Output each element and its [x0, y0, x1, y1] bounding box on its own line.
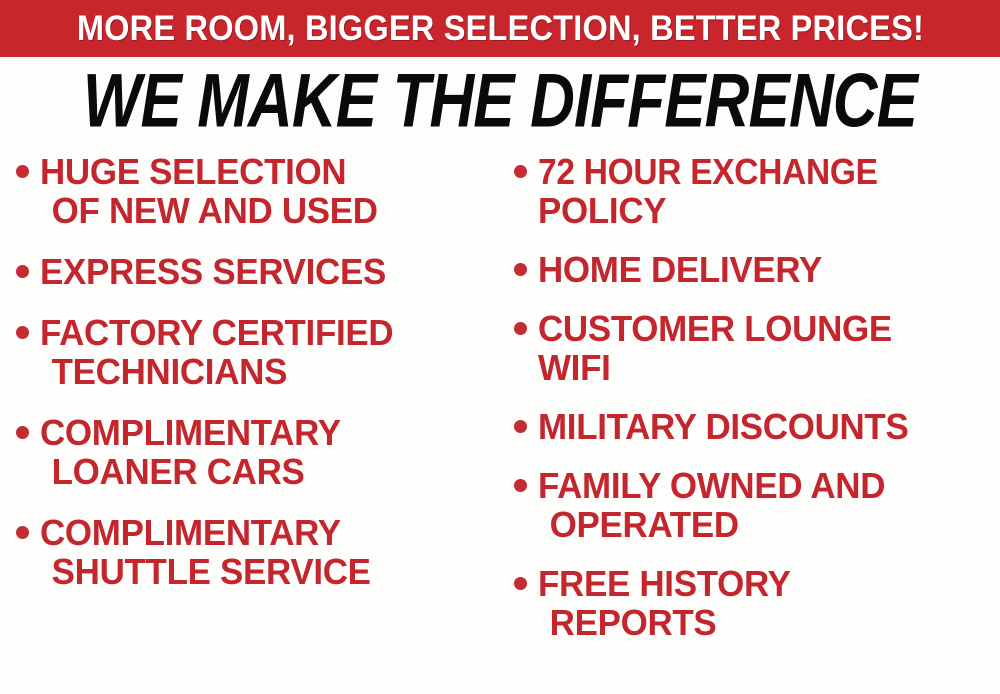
list-item-text: FREE HISTORY REPORTS: [538, 564, 1000, 642]
benefits-column-right: 72 HOUR EXCHANGE POLICY HOME DELIVERY CU…: [500, 152, 1000, 694]
list-item: COMPLIMENTARY SHUTTLE SERVICE: [16, 513, 500, 591]
list-item-text: EXPRESS SERVICES: [40, 252, 500, 291]
list-item-line-2: POLICY: [538, 191, 986, 230]
bullet-dot-icon: [16, 265, 29, 278]
list-item-line-1: FREE HISTORY: [538, 564, 986, 603]
benefits-column-left: HUGE SELECTION OF NEW AND USED EXPRESS S…: [0, 152, 500, 694]
bullet-dot-icon: [16, 526, 29, 539]
bullet-dot-icon: [16, 165, 29, 178]
list-item-line-1: HUGE SELECTION: [40, 152, 486, 191]
list-item-text: COMPLIMENTARY LOANER CARS: [40, 413, 500, 491]
list-item: MILITARY DISCOUNTS: [514, 407, 1000, 446]
list-item-text: COMPLIMENTARY SHUTTLE SERVICE: [40, 513, 500, 591]
promo-poster: MORE ROOM, BIGGER SELECTION, BETTER PRIC…: [0, 0, 1000, 694]
list-item-text: HUGE SELECTION OF NEW AND USED: [40, 152, 500, 230]
list-item-line-1: EXPRESS SERVICES: [40, 252, 486, 291]
list-item-line-1: COMPLIMENTARY: [40, 513, 486, 552]
list-item-line-1: 72 HOUR EXCHANGE: [538, 152, 968, 191]
bullet-dot-icon: [514, 577, 527, 590]
list-item: COMPLIMENTARY LOANER CARS: [16, 413, 500, 491]
list-item: HUGE SELECTION OF NEW AND USED: [16, 152, 500, 230]
list-item-line-1: FAMILY OWNED AND: [538, 466, 986, 505]
list-item: 72 HOUR EXCHANGE POLICY: [514, 152, 1000, 230]
list-item: CUSTOMER LOUNGE WIFI: [514, 309, 1000, 387]
list-item-text: CUSTOMER LOUNGE WIFI: [538, 309, 1000, 387]
benefits-columns: HUGE SELECTION OF NEW AND USED EXPRESS S…: [0, 152, 1000, 694]
list-item: FREE HISTORY REPORTS: [514, 564, 1000, 642]
headline-area: WE MAKE THE DIFFERENCE: [0, 62, 1000, 140]
list-item: FACTORY CERTIFIED TECHNICIANS: [16, 313, 500, 391]
bullet-dot-icon: [514, 165, 527, 178]
banner-headline-text: MORE ROOM, BIGGER SELECTION, BETTER PRIC…: [76, 11, 923, 46]
bullet-dot-icon: [514, 322, 527, 335]
list-item-text: MILITARY DISCOUNTS: [538, 407, 1000, 446]
list-item-line-1: FACTORY CERTIFIED: [40, 313, 486, 352]
list-item-line-1: CUSTOMER LOUNGE: [538, 309, 986, 348]
list-item-line-2: SHUTTLE SERVICE: [40, 552, 486, 591]
top-banner: MORE ROOM, BIGGER SELECTION, BETTER PRIC…: [0, 0, 1000, 57]
list-item-text: FAMILY OWNED AND OPERATED: [538, 466, 1000, 544]
bullet-dot-icon: [514, 263, 527, 276]
list-item-line-2: TECHNICIANS: [40, 352, 486, 391]
list-item-line-2: WIFI: [538, 348, 986, 387]
list-item-line-1: MILITARY DISCOUNTS: [538, 407, 986, 446]
bullet-dot-icon: [514, 479, 527, 492]
list-item-text: HOME DELIVERY: [538, 250, 1000, 289]
list-item-line-2: LOANER CARS: [40, 452, 486, 491]
main-headline: WE MAKE THE DIFFERENCE: [83, 63, 917, 139]
list-item-text: FACTORY CERTIFIED TECHNICIANS: [40, 313, 500, 391]
bullet-dot-icon: [16, 326, 29, 339]
list-item: HOME DELIVERY: [514, 250, 1000, 289]
list-item: FAMILY OWNED AND OPERATED: [514, 466, 1000, 544]
list-item-line-1: COMPLIMENTARY: [40, 413, 486, 452]
list-item: EXPRESS SERVICES: [16, 252, 500, 291]
bullet-dot-icon: [16, 426, 29, 439]
list-item-line-1: HOME DELIVERY: [538, 250, 986, 289]
list-item-line-2: OPERATED: [538, 505, 986, 544]
list-item-line-2: REPORTS: [538, 603, 986, 642]
list-item-line-2: OF NEW AND USED: [40, 191, 486, 230]
list-item-text: 72 HOUR EXCHANGE POLICY: [538, 152, 1000, 230]
bullet-dot-icon: [514, 420, 527, 433]
